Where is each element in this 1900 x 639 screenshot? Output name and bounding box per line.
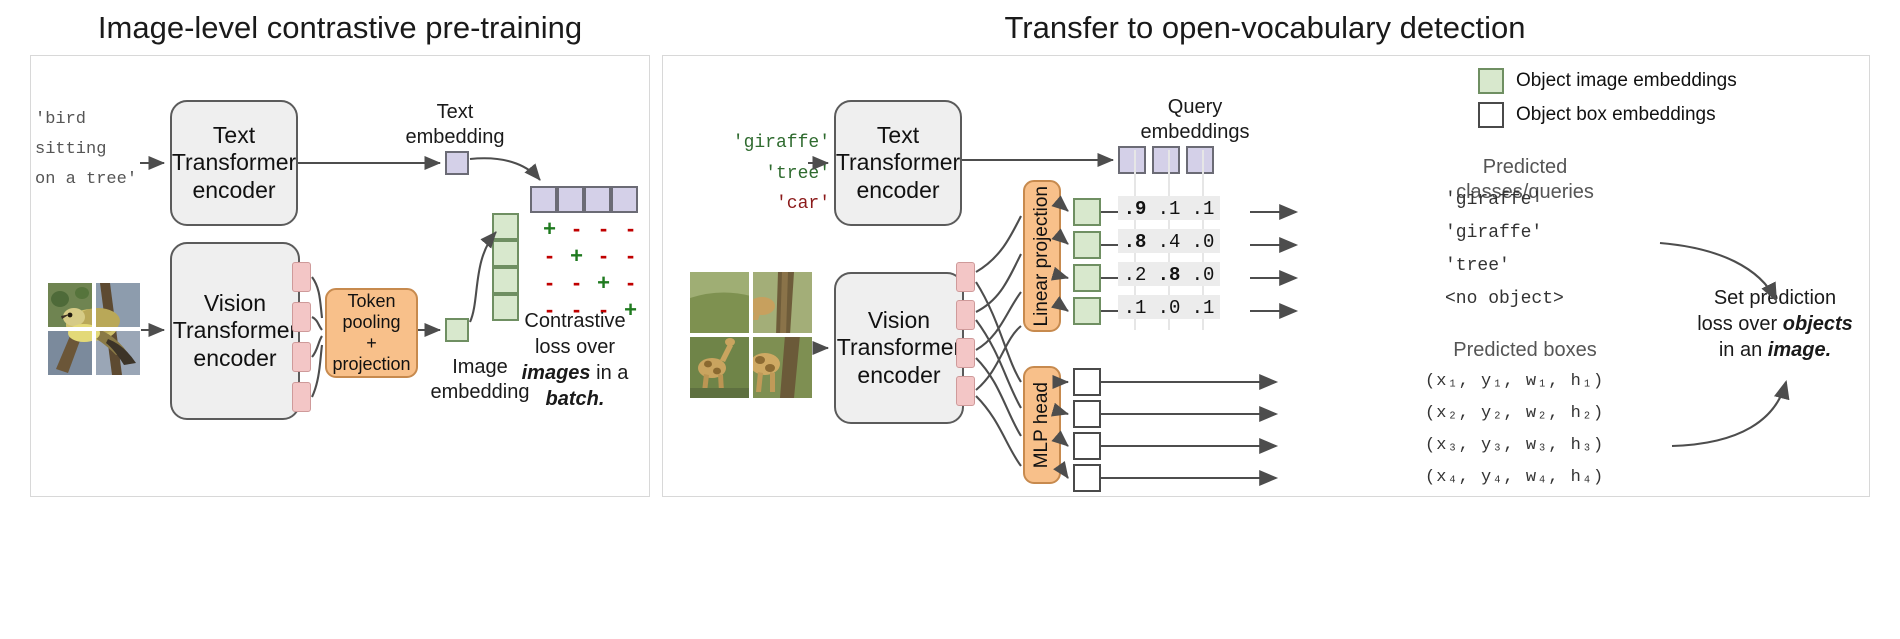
left-token-pooling-box: Token pooling + projection (325, 288, 418, 378)
query-giraffe: 'giraffe' (690, 128, 830, 159)
linear-projection-box: Linear projection (1023, 180, 1061, 332)
left-token-2 (292, 302, 311, 332)
mlp-head-label: MLP head (1031, 382, 1053, 468)
left-image-emb-col-cell (492, 267, 519, 294)
contrastive-negative: - (617, 218, 644, 240)
mlp-head-box: MLP head (1023, 366, 1061, 484)
left-loss-line1: Contrastive (495, 308, 655, 334)
predicted-box-item: (x₁, y₁, w₁, h₁) (1425, 372, 1604, 391)
left-token-4 (292, 382, 311, 412)
right-vision-encoder-label: Vision Transformer encoder (837, 307, 961, 390)
right-vision-transformer-encoder: Vision Transformer encoder (834, 272, 964, 424)
score-matrix-cell: .1 (1186, 297, 1220, 319)
object-box-embedding-3 (1073, 432, 1101, 460)
score-matrix-cell: .1 (1118, 297, 1152, 319)
left-text-embedding-square (445, 151, 469, 175)
contrastive-positive: + (590, 272, 617, 294)
right-token-3 (956, 338, 975, 368)
predicted-box-item: (x₂, y₂, w₂, h₂) (1425, 404, 1604, 423)
left-loss-em-images: images (522, 362, 591, 384)
object-box-embedding-4 (1073, 464, 1101, 492)
right-text-encoder-label: Text Transformer encoder (836, 122, 960, 205)
object-image-embedding-2 (1073, 231, 1101, 259)
right-token-1 (956, 262, 975, 292)
score-matrix-cell: .1 (1186, 198, 1220, 220)
right-loss-line1: Set prediction (1660, 285, 1890, 311)
giraffe-photo (690, 272, 812, 398)
right-loss-line2: loss over objects (1660, 311, 1890, 337)
left-text-emb-row-cell (584, 186, 611, 213)
left-token-1 (292, 262, 311, 292)
left-text-emb-row-cell (530, 186, 557, 213)
right-token-4 (956, 376, 975, 406)
linear-projection-label: Linear projection (1031, 186, 1053, 326)
contrastive-positive: + (536, 218, 563, 240)
contrastive-negative: - (617, 245, 644, 267)
contrastive-negative: - (563, 272, 590, 294)
contrastive-positive: + (563, 245, 590, 267)
predicted-class-item: <no object> (1445, 289, 1564, 309)
left-loss-caption: Contrastive loss over images in a batch. (495, 308, 655, 412)
legend-label-object-box: Object box embeddings (1516, 104, 1716, 126)
left-loss-line4: batch. (495, 386, 655, 412)
object-image-embedding-4 (1073, 297, 1101, 325)
right-query-list: 'giraffe' 'tree' 'car' (690, 128, 830, 220)
left-image-emb-col-cell (492, 240, 519, 267)
right-loss-em-objects: objects (1783, 313, 1853, 335)
left-text-encoder-label: Text Transformer encoder (172, 122, 296, 205)
object-image-embedding-1 (1073, 198, 1101, 226)
predicted-box-item: (x₃, y₃, w₃, h₃) (1425, 436, 1604, 455)
contrastive-negative: - (590, 218, 617, 240)
right-input-image (690, 272, 812, 398)
right-panel-title: Transfer to open-vocabulary detection (660, 10, 1870, 46)
left-text-transformer-encoder: Text Transformer encoder (170, 100, 298, 226)
object-box-embedding-2 (1073, 400, 1101, 428)
legend-label-object-image: Object image embeddings (1516, 70, 1737, 92)
score-matrix-cell: .2 (1118, 264, 1152, 286)
contrastive-negative: - (536, 272, 563, 294)
left-text-emb-row-cell (557, 186, 584, 213)
predicted-boxes-label: Predicted boxes (1420, 338, 1630, 363)
score-matrix-cell: .0 (1186, 264, 1220, 286)
left-text-input: 'bird sitting on a tree' (35, 105, 165, 194)
left-token-pooling-label: Token pooling + projection (332, 291, 410, 376)
score-matrix: .9.1.1.8.4.0.2.8.0.1.0.1 (1118, 196, 1248, 328)
query-embedding-2 (1152, 146, 1180, 174)
query-car: 'car' (690, 189, 830, 220)
contrastive-negative: - (590, 245, 617, 267)
predicted-class-item: 'giraffe' (1445, 190, 1542, 210)
left-panel-title: Image-level contrastive pre-training (30, 10, 650, 46)
left-vision-transformer-encoder: Vision Transformer encoder (170, 242, 300, 420)
score-matrix-cell: .9 (1118, 198, 1152, 220)
query-embedding-3 (1186, 146, 1214, 174)
right-loss-line3a: in an (1719, 339, 1768, 361)
predicted-class-item: 'giraffe' (1445, 223, 1542, 243)
predicted-class-item: 'tree' (1445, 256, 1510, 276)
left-input-image (48, 283, 140, 375)
left-token-3 (292, 342, 311, 372)
left-loss-em-batch: batch. (546, 388, 605, 410)
right-loss-line2a: loss over (1697, 313, 1783, 335)
score-matrix-cell: .1 (1152, 198, 1186, 220)
left-text-emb-row-cell (611, 186, 638, 213)
score-matrix-cell: .0 (1186, 231, 1220, 253)
left-image-embedding-square (445, 318, 469, 342)
query-tree: 'tree' (690, 159, 830, 190)
right-text-transformer-encoder: Text Transformer encoder (834, 100, 962, 226)
score-matrix-cell: .8 (1152, 264, 1186, 286)
bird-photo (48, 283, 140, 375)
legend-item-object-image: Object image embeddings (1478, 68, 1878, 94)
left-vision-encoder-label: Vision Transformer encoder (173, 290, 297, 373)
legend: Object image embeddings Object box embed… (1478, 68, 1878, 128)
object-box-embedding-1 (1073, 368, 1101, 396)
score-matrix-cell: .0 (1152, 297, 1186, 319)
score-matrix-cell: .4 (1152, 231, 1186, 253)
score-matrix-cell: .8 (1118, 231, 1152, 253)
left-loss-line2: loss over (495, 334, 655, 360)
right-loss-em-image: image. (1768, 339, 1831, 361)
legend-item-object-box: Object box embeddings (1478, 102, 1878, 128)
right-loss-line3: in an image. (1660, 337, 1890, 363)
query-embeddings-label: Query embeddings (1110, 95, 1280, 145)
contrastive-negative: - (536, 245, 563, 267)
left-loss-line3-rest: in a (591, 362, 629, 384)
contrastive-negative: - (617, 272, 644, 294)
left-text-embedding-label: Text embedding (385, 100, 525, 150)
legend-swatch-white (1478, 102, 1504, 128)
set-prediction-loss-caption: Set prediction loss over objects in an i… (1660, 285, 1890, 363)
predicted-box-item: (x₄, y₄, w₄, h₄) (1425, 468, 1604, 487)
legend-swatch-green (1478, 68, 1504, 94)
object-image-embedding-3 (1073, 264, 1101, 292)
query-embedding-1 (1118, 146, 1146, 174)
contrastive-negative: - (563, 218, 590, 240)
left-image-emb-col-cell (492, 213, 519, 240)
left-loss-line3: images in a (495, 360, 655, 386)
right-token-2 (956, 300, 975, 330)
